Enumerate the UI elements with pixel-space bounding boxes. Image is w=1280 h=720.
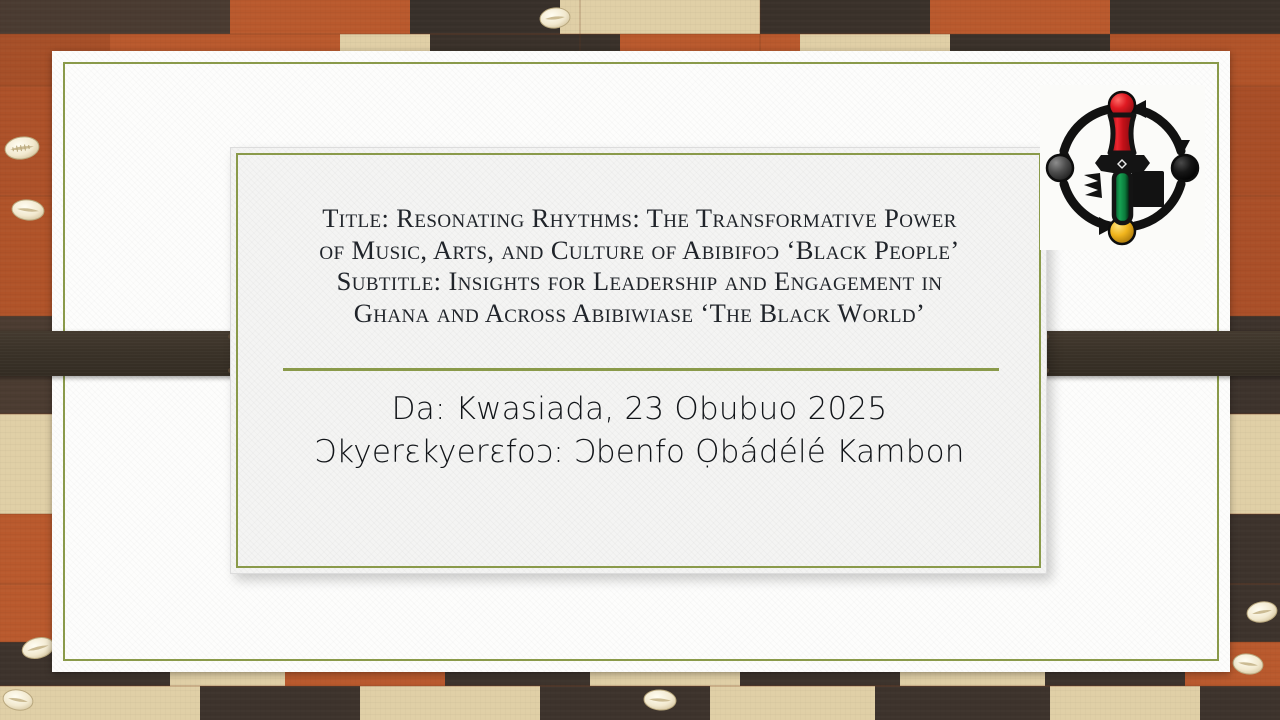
title-line-2: of Music, Arts, and Culture of Abibifoɔ …: [259, 235, 1020, 267]
organization-logo: [1040, 85, 1205, 250]
slide-subtitle: Da: Kwasiada, 23 Obubuo 2025 Ɔkyerɛkyerɛ…: [259, 388, 1020, 474]
date-line: Da: Kwasiada, 23 Obubuo 2025: [259, 388, 1020, 431]
sphere-gray: [1047, 155, 1073, 181]
title-divider: [283, 368, 999, 371]
title-panel: Title: Resonating Rhythms: The Transform…: [230, 147, 1047, 574]
title-line-1: Title: Resonating Rhythms: The Transform…: [259, 203, 1020, 235]
decorative-bar-right: [1020, 331, 1280, 376]
decorative-bar-left: [0, 331, 256, 376]
sphere-black: [1172, 155, 1198, 181]
title-line-3: Subtitle: Insights for Leadership and En…: [259, 266, 1020, 298]
title-line-4: Ghana and Across Abibiwiase ‘The Black W…: [259, 298, 1020, 330]
slide-title: Title: Resonating Rhythms: The Transform…: [259, 203, 1020, 329]
presenter-line: Ɔkyerɛkyerɛfoɔ: Ɔbenfo Ọbádélé Kambon: [259, 431, 1020, 474]
